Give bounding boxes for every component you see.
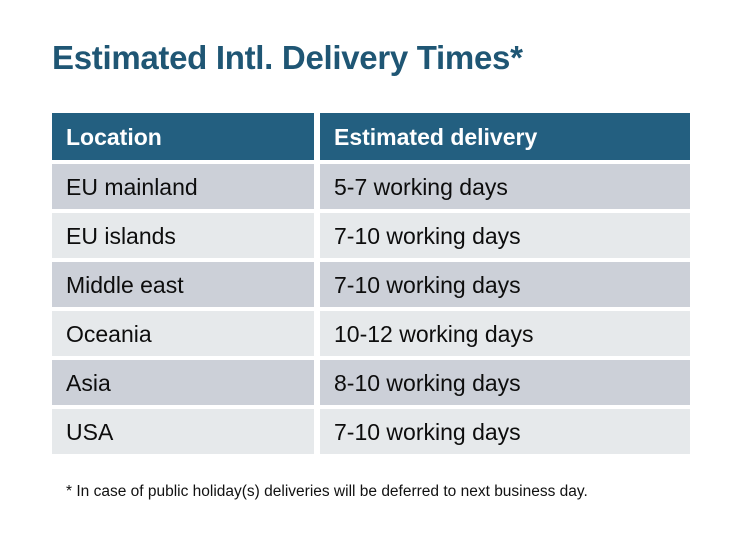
cell-estimated-delivery: 7-10 working days (320, 262, 690, 307)
cell-location: USA (52, 409, 314, 454)
page-title: Estimated Intl. Delivery Times* (52, 38, 523, 78)
table-row: EU islands 7-10 working days (52, 213, 690, 258)
table-row: Asia 8-10 working days (52, 360, 690, 405)
cell-estimated-delivery: 10-12 working days (320, 311, 690, 356)
column-header-estimated-delivery: Estimated delivery (320, 113, 690, 160)
cell-location: Asia (52, 360, 314, 405)
cell-estimated-delivery: 7-10 working days (320, 213, 690, 258)
cell-estimated-delivery: 5-7 working days (320, 164, 690, 209)
table-header-row: Location Estimated delivery (52, 113, 690, 160)
cell-location: Middle east (52, 262, 314, 307)
delivery-times-page: Estimated Intl. Delivery Times* Location… (0, 0, 745, 536)
column-header-location: Location (52, 113, 314, 160)
cell-estimated-delivery: 8-10 working days (320, 360, 690, 405)
cell-location: EU islands (52, 213, 314, 258)
cell-estimated-delivery: 7-10 working days (320, 409, 690, 454)
footnote-text: * In case of public holiday(s) deliverie… (66, 482, 588, 502)
cell-location: Oceania (52, 311, 314, 356)
table-row: USA 7-10 working days (52, 409, 690, 454)
cell-location: EU mainland (52, 164, 314, 209)
table-row: Oceania 10-12 working days (52, 311, 690, 356)
table-row: Middle east 7-10 working days (52, 262, 690, 307)
table-row: EU mainland 5-7 working days (52, 164, 690, 209)
delivery-times-table: Location Estimated delivery EU mainland … (52, 113, 690, 454)
